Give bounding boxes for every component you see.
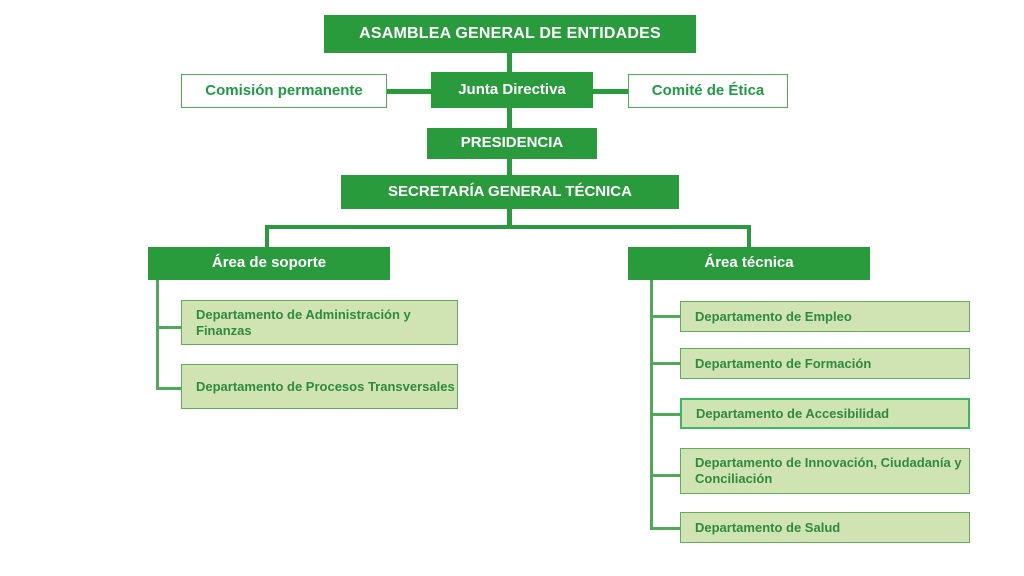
connector-support-area-stem [156,280,159,390]
node-asamblea-general-label: ASAMBLEA GENERAL DE ENTIDADES [324,24,696,44]
connector-assembly-to-board [507,51,512,73]
node-departamento-accesibilidad-label: Departamento de Accesibilidad [682,406,968,422]
connector-presidency-to-secretariat [507,158,512,176]
node-presidencia-label: PRESIDENCIA [427,134,597,152]
connector-support-branch-1 [156,326,182,329]
node-presidencia[interactable]: PRESIDENCIA [427,128,597,159]
connector-technical-branch-5 [650,527,681,530]
node-departamento-administracion-finanzas[interactable]: Departamento de Administración y Finanza… [181,300,458,345]
organization-chart: ASAMBLEA GENERAL DE ENTIDADES Comisión p… [0,0,1024,576]
connector-support-branch-2 [156,387,182,390]
connector-technical-branch-4 [650,474,681,477]
node-departamento-procesos-transversales-label: Departamento de Procesos Transversales [182,379,457,395]
node-departamento-formacion-label: Departamento de Formación [681,356,969,372]
connector-board-to-presidency [507,106,512,129]
node-junta-directiva[interactable]: Junta Directiva [431,72,593,108]
node-departamento-administracion-finanzas-label: Departamento de Administración y Finanza… [182,307,457,339]
node-comite-de-etica[interactable]: Comité de Ética [628,74,788,108]
node-area-tecnica-label: Área técnica [628,254,870,272]
node-departamento-empleo-label: Departamento de Empleo [681,309,969,325]
node-departamento-salud[interactable]: Departamento de Salud [680,512,970,543]
node-comite-de-etica-label: Comité de Ética [629,82,787,100]
node-departamento-innovacion-ciudadania-conciliacion-label: Departamento de Innovación, Ciudadanía y… [681,455,969,487]
connector-technical-branch-1 [650,315,681,318]
node-departamento-innovacion-ciudadania-conciliacion[interactable]: Departamento de Innovación, Ciudadanía y… [680,448,970,494]
node-departamento-formacion[interactable]: Departamento de Formación [680,348,970,379]
node-area-de-soporte-label: Área de soporte [148,254,390,272]
node-departamento-salud-label: Departamento de Salud [681,520,969,536]
node-secretaria-general-tecnica[interactable]: SECRETARÍA GENERAL TÉCNICA [341,175,679,209]
node-departamento-accesibilidad[interactable]: Departamento de Accesibilidad [680,398,970,429]
node-area-de-soporte[interactable]: Área de soporte [148,247,390,280]
node-junta-directiva-label: Junta Directiva [431,81,593,99]
node-departamento-procesos-transversales[interactable]: Departamento de Procesos Transversales [181,364,458,409]
node-comision-permanente[interactable]: Comisión permanente [181,74,387,108]
connector-board-to-standing-committee [386,89,432,94]
node-departamento-empleo[interactable]: Departamento de Empleo [680,301,970,332]
node-asamblea-general[interactable]: ASAMBLEA GENERAL DE ENTIDADES [324,15,696,53]
connector-technical-branch-2 [650,362,681,365]
node-area-tecnica[interactable]: Área técnica [628,247,870,280]
node-secretaria-general-tecnica-label: SECRETARÍA GENERAL TÉCNICA [341,183,679,201]
connector-bar-to-technical-area [747,225,751,249]
connector-areas-horizontal-bar [265,225,751,229]
connector-technical-branch-3 [650,413,681,416]
connector-board-to-ethics-committee [592,89,629,94]
node-comision-permanente-label: Comisión permanente [182,82,386,100]
connector-bar-to-support-area [265,225,269,249]
